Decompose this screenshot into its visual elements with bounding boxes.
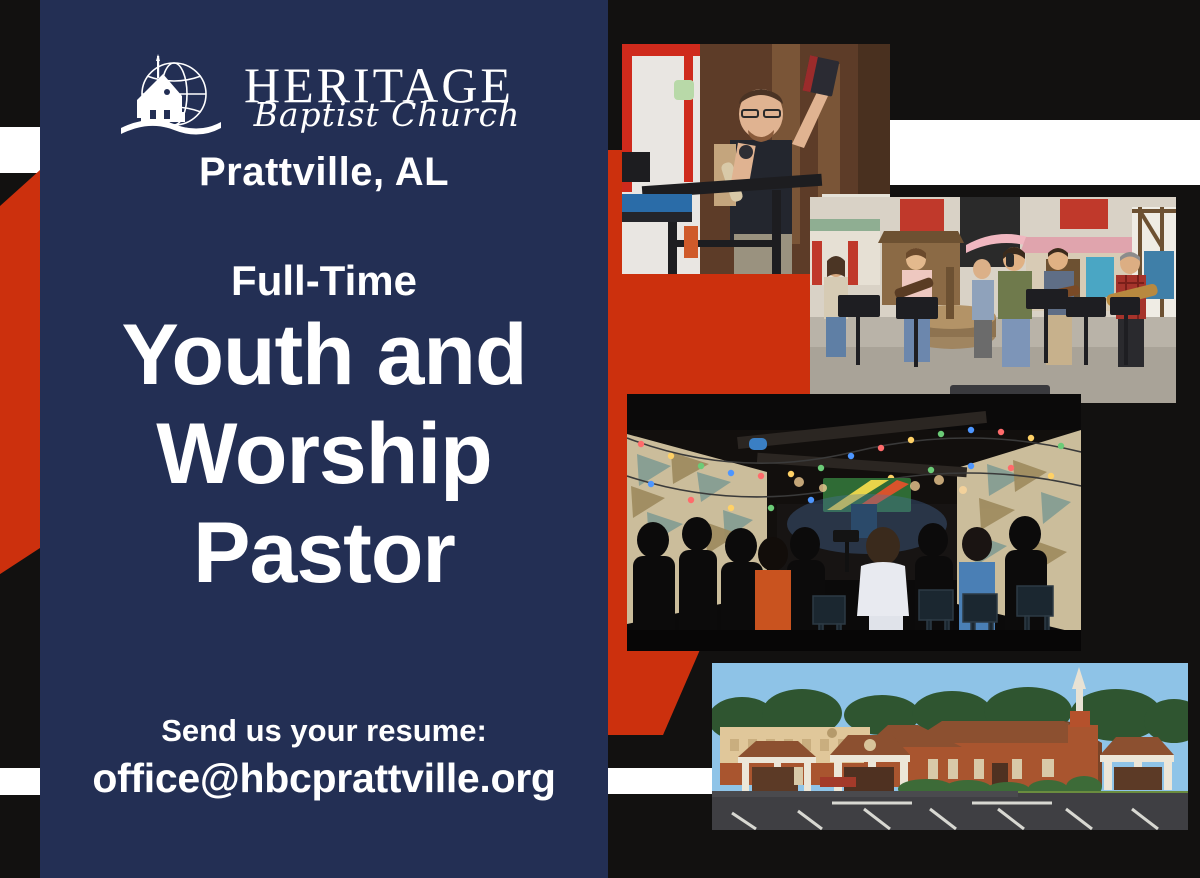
- decorative-white-bar-right-bottom: [608, 768, 718, 794]
- contact-label: Send us your resume:: [40, 713, 608, 749]
- job-kicker: Full-Time: [40, 259, 608, 303]
- job-headline: Full-Time Youth and Worship Pastor: [40, 259, 608, 600]
- poster-content: HERITAGE Baptist Church Prattville, AL F…: [40, 0, 608, 878]
- logo-city-text: Prattville, AL: [199, 150, 449, 195]
- job-title-line-2: Worship: [40, 408, 608, 501]
- globe-church-steeple-icon: [119, 52, 223, 144]
- job-title-line-3: Pastor: [40, 507, 608, 600]
- contact-email: office@hbcprattville.org: [40, 755, 608, 802]
- job-posting-poster: HERITAGE Baptist Church Prattville, AL F…: [0, 0, 1200, 878]
- church-building-photo: [712, 663, 1188, 830]
- logo-wordmark: HERITAGE Baptist Church: [229, 52, 529, 144]
- decorative-white-bar-left-bottom: [0, 768, 40, 795]
- contact-info: Send us your resume: office@hbcprattvill…: [40, 713, 608, 802]
- logo-script-text: Baptist Church: [237, 98, 537, 131]
- worship-band-photo: [810, 197, 1176, 403]
- decorative-white-bar-left-top: [0, 127, 40, 173]
- church-logo: HERITAGE Baptist Church Prattville, AL: [40, 52, 608, 195]
- logo-row: HERITAGE Baptist Church: [119, 52, 529, 144]
- job-title-line-1: Youth and: [40, 309, 608, 402]
- decorative-white-bar-right-top: [888, 120, 1200, 185]
- youth-service-photo: [627, 394, 1081, 651]
